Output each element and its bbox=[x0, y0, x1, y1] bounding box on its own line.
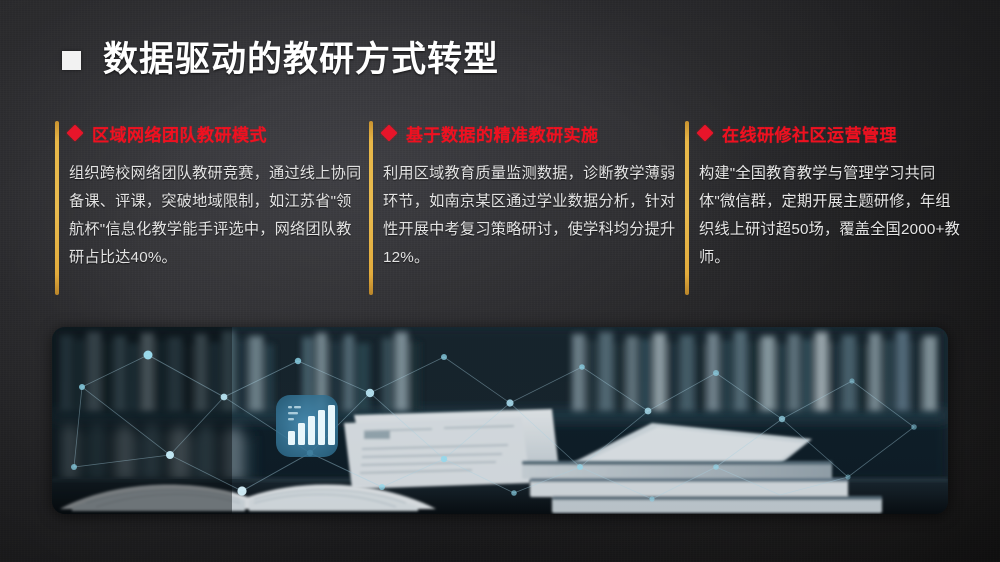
card-group: 区域网络团队教研模式 组织跨校网络团队教研竞赛，通过线上协同备课、评课，突破地域… bbox=[50, 118, 960, 272]
card-header: 在线研修社区运营管理 bbox=[699, 120, 960, 146]
slide-root: 数据驱动的教研方式转型 区域网络团队教研模式 组织跨校网络团队教研竞赛，通过线上… bbox=[0, 0, 1000, 562]
page-title-text: 数据驱动的教研方式转型 bbox=[103, 40, 499, 80]
bar-chart-icon bbox=[276, 395, 338, 457]
red-diamond-icon bbox=[697, 125, 714, 142]
card-data-driven-precision: 基于数据的精准教研实施 利用区域教育质量监测数据，诊断教学薄弱环节，如南京某区通… bbox=[364, 118, 680, 272]
red-diamond-icon bbox=[67, 125, 84, 142]
card-body-text: 利用区域教育质量监测数据，诊断教学薄弱环节，如南京某区通过学业数据分析，针对性开… bbox=[383, 160, 680, 272]
card-online-community-ops: 在线研修社区运营管理 构建"全国教育教学与管理学习共同体"微信群，定期开展主题研… bbox=[680, 118, 960, 272]
card-title: 区域网络团队教研模式 bbox=[92, 121, 267, 146]
card-body-text: 组织跨校网络团队教研竞赛，通过线上协同备课、评课，突破地域限制，如江苏省"领航杯… bbox=[69, 160, 364, 272]
gold-accent-rule bbox=[369, 121, 373, 295]
library-photo-graphic bbox=[52, 327, 948, 514]
gold-accent-rule bbox=[55, 121, 59, 295]
card-header: 区域网络团队教研模式 bbox=[69, 120, 364, 146]
page-title: 数据驱动的教研方式转型 bbox=[62, 40, 499, 80]
square-bullet-icon bbox=[62, 51, 81, 70]
card-title: 基于数据的精准教研实施 bbox=[406, 121, 599, 146]
card-region-network-team: 区域网络团队教研模式 组织跨校网络团队教研竞赛，通过线上协同备课、评课，突破地域… bbox=[50, 118, 364, 272]
card-header: 基于数据的精准教研实施 bbox=[383, 120, 680, 146]
card-body-text: 构建"全国教育教学与管理学习共同体"微信群，定期开展主题研修，年组织线上研讨超5… bbox=[699, 160, 960, 272]
gold-accent-rule bbox=[685, 121, 689, 295]
card-title: 在线研修社区运营管理 bbox=[722, 121, 897, 146]
library-photo bbox=[52, 327, 948, 514]
red-diamond-icon bbox=[381, 125, 398, 142]
